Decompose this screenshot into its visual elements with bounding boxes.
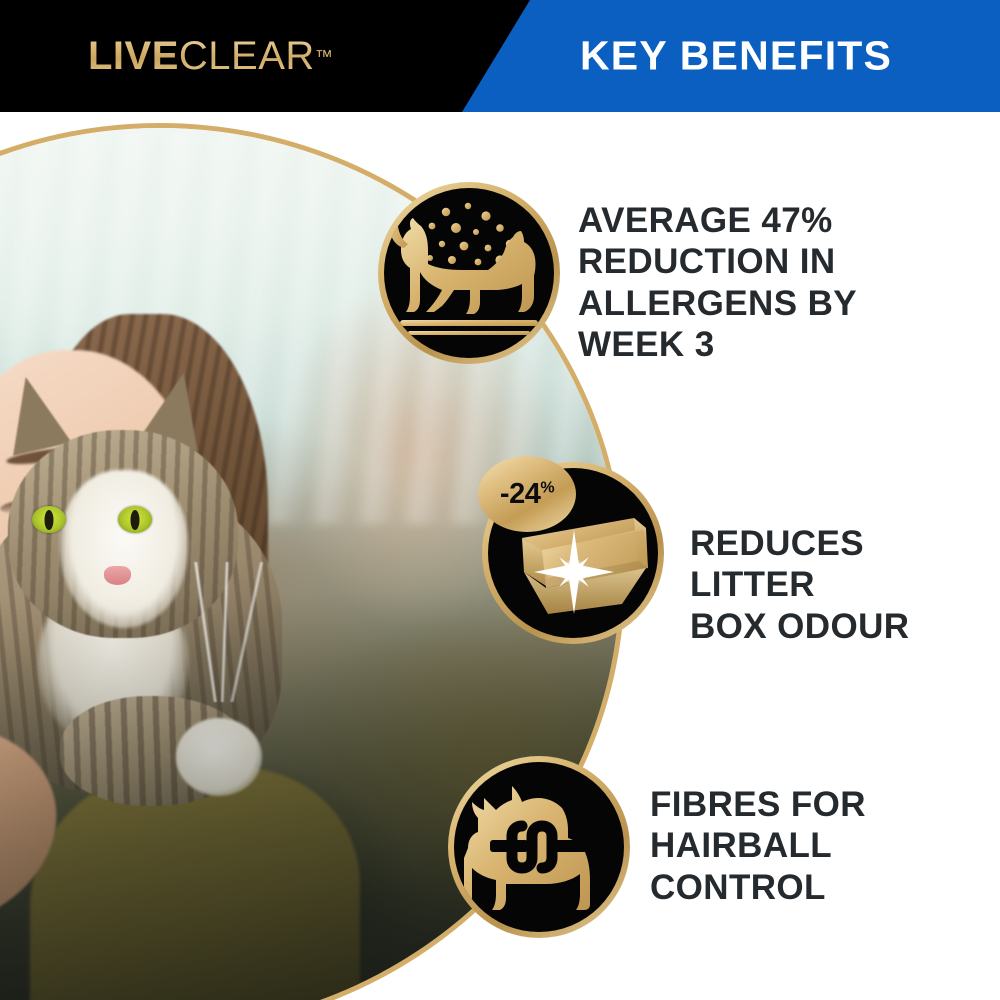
stat-badge-value: -24 bbox=[500, 478, 540, 510]
benefit-label-litter-box-odour: REDUCES LITTER BOX ODOUR bbox=[690, 523, 990, 647]
header-bar: LIVECLEAR™ KEY BENEFITS bbox=[0, 0, 1000, 112]
key-benefits-poster: LIVECLEAR™ KEY BENEFITS bbox=[0, 0, 1000, 1000]
stat-badge-odour-reduction: -24% bbox=[478, 456, 576, 532]
trademark-symbol: ™ bbox=[315, 47, 333, 67]
stat-badge-text: -24% bbox=[500, 480, 554, 509]
cat-with-allergens-icon bbox=[384, 188, 554, 358]
benefit-label-hairball-control: FIBRES FOR HAIRBALL CONTROL bbox=[650, 784, 950, 908]
brand-logo-light: CLEAR bbox=[179, 34, 315, 78]
stat-badge-unit: % bbox=[540, 479, 554, 496]
benefit-icon-hairball-control bbox=[448, 756, 630, 938]
cat-digestive-tract-icon bbox=[454, 762, 624, 932]
brand-logo: LIVECLEAR™ bbox=[88, 36, 333, 76]
page-title: KEY BENEFITS bbox=[580, 33, 892, 80]
brand-logo-bold: LIVE bbox=[88, 34, 179, 78]
benefit-label-allergen-reduction: AVERAGE 47% REDUCTION IN ALLERGENS BY WE… bbox=[578, 200, 978, 365]
benefit-icon-allergen-reduction bbox=[378, 182, 560, 364]
